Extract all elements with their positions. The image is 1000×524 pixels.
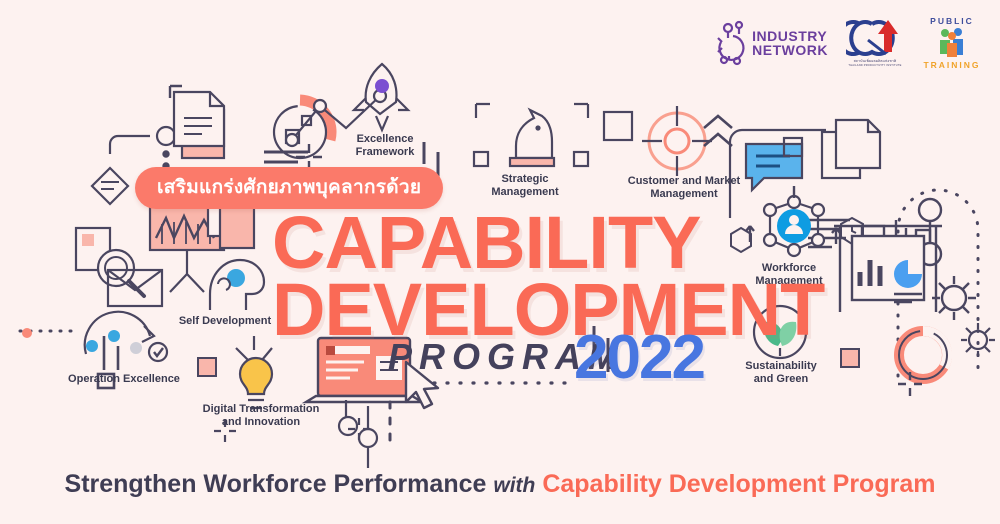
logo-public-arc-top: PUBLIC [922, 16, 982, 26]
logo-industry-line1: INDUSTRY [752, 29, 828, 43]
label-digital-transformation: Digital Transformation and Innovation [178, 403, 344, 429]
documents-right-icon [818, 116, 888, 188]
label-strategic-management: Strategic Management [468, 173, 582, 199]
dotted-trail-icon [432, 378, 572, 388]
label-excellence-framework: Excellence Framework [327, 133, 443, 159]
logo-industry-line2: NETWORK [752, 43, 828, 57]
coral-dot-left-icon [20, 326, 34, 340]
label-operation-excellence: Operation Excellence [48, 373, 200, 386]
people-icon [936, 27, 968, 59]
circle-arrow-icon [846, 18, 904, 58]
tagline-part1: Strengthen Workforce Performance [65, 470, 487, 498]
rocket-icon [346, 58, 418, 136]
logo-thai-subtitle-en: THAILAND PRODUCTIVITY INSTITUTE [846, 64, 904, 68]
logo-public-arc-bottom: TRAINING [922, 60, 982, 70]
logo-thai-subtitle: สถาบันเพิ่มผลผลิตแห่งชาติ [846, 59, 904, 63]
logo-industry-network: INDUSTRY NETWORK [715, 20, 828, 66]
headline-year: 2022 [574, 327, 704, 389]
frame-corner-icon [600, 108, 636, 144]
strategic-brackets-icon [470, 100, 594, 170]
sparkle-right-icon [896, 370, 924, 398]
footer-tagline: Strengthen Workforce Performance with Ca… [0, 470, 1000, 499]
gear-small-icon [958, 320, 998, 360]
tagline-part2: Capability Development Program [542, 470, 935, 498]
tagline-with: with [493, 474, 535, 497]
sparkle-bottomleft-icon [346, 416, 372, 442]
logo-thai-institute: สถาบันเพิ่มผลผลิตแห่งชาติ THAILAND PRODU… [846, 18, 904, 68]
promo-banner: INDUSTRY NETWORK สถาบันเพิ่มผลผลิตแห่งชา… [0, 0, 1000, 524]
documents-icon [168, 84, 258, 174]
coral-square-icon [838, 346, 862, 370]
label-customer-market: Customer and Market Management [610, 175, 758, 201]
logo-public-training: PUBLIC TRAINING [922, 14, 982, 72]
gear-circuit-icon [715, 20, 749, 66]
logo-bar: INDUSTRY NETWORK สถาบันเพิ่มผลผลิตแห่งชา… [715, 14, 982, 72]
gear-icon [928, 272, 980, 324]
envelope-icon [104, 264, 168, 312]
label-sustainability-green: Sustainability and Green [725, 360, 837, 386]
small-hex-icon [728, 226, 754, 254]
self-development-head-icon [196, 248, 268, 318]
